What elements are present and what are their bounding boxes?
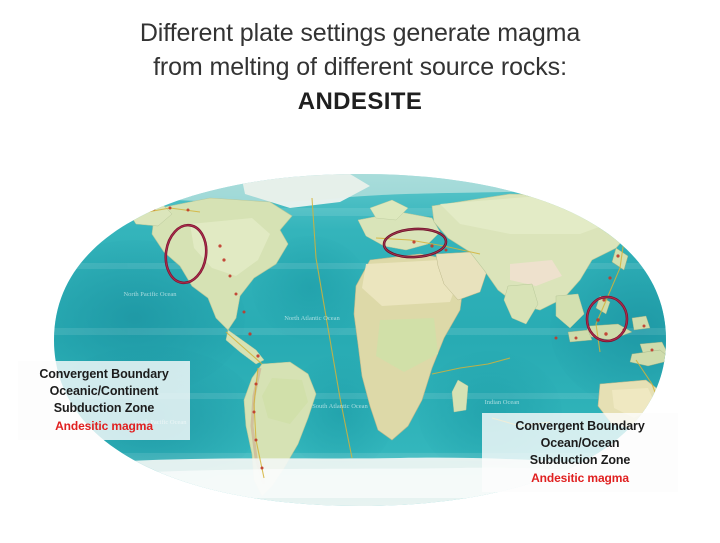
left-label-magma: Andesitic magma [26, 418, 182, 434]
label-convergent-boundary-ocean-ocean: Convergent Boundary Ocean/Ocean Subducti… [482, 413, 678, 492]
left-label-line-3: Subduction Zone [26, 400, 182, 417]
page-title: Different plate settings generate magma … [0, 16, 720, 118]
left-label-line-1: Convergent Boundary [26, 366, 182, 383]
ocean-label-south-atlantic: South Atlantic Ocean [312, 403, 368, 410]
label-convergent-boundary-ocean-continent: Convergent Boundary Oceanic/Continent Su… [18, 361, 190, 440]
title-line-1: Different plate settings generate magma [0, 16, 720, 50]
ocean-label-indian: Indian Ocean [485, 399, 521, 406]
right-label-line-1: Convergent Boundary [490, 418, 670, 435]
ocean-label-north-pacific: North Pacific Ocean [123, 291, 177, 298]
left-label-line-2: Oceanic/Continent [26, 383, 182, 400]
right-label-line-2: Ocean/Ocean [490, 435, 670, 452]
kamchatka [618, 216, 632, 238]
title-line-2: from melting of different source rocks: [0, 50, 720, 84]
right-label-magma: Andesitic magma [490, 470, 670, 486]
ocean-label-north-atlantic: North Atlantic Ocean [284, 315, 340, 322]
title-emphasis-andesite: ANDESITE [0, 86, 720, 118]
right-label-line-3: Subduction Zone [490, 452, 670, 469]
slide-canvas: Different plate settings generate magma … [0, 0, 720, 543]
